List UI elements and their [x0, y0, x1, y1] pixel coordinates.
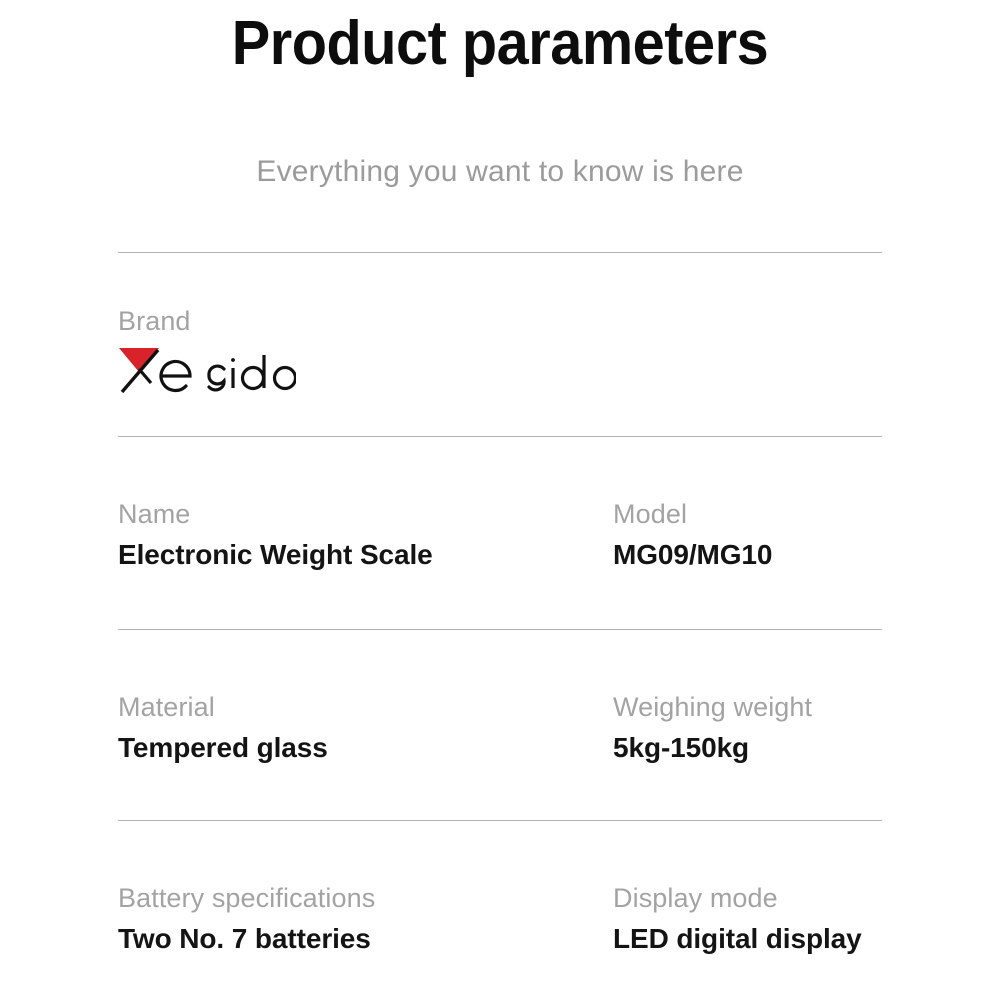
spec-value-material: Tempered glass	[118, 730, 613, 765]
divider-after-name	[118, 629, 882, 630]
divider-after-material	[118, 820, 882, 821]
spec-cell-material: Material Tempered glass	[118, 691, 613, 765]
spec-label-battery: Battery specifications	[118, 882, 613, 916]
spec-value-battery: Two No. 7 batteries	[118, 921, 613, 956]
spec-value-name: Electronic Weight Scale	[118, 537, 613, 572]
page-title: Product parameters	[35, 8, 965, 79]
spec-cell-model: Model MG09/MG10	[613, 498, 882, 572]
brand-logo	[118, 345, 613, 393]
spec-cell-battery: Battery specifications Two No. 7 batteri…	[118, 882, 613, 956]
spec-row-battery-display: Battery specifications Two No. 7 batteri…	[118, 882, 882, 956]
page-subtitle: Everything you want to know is here	[0, 152, 1000, 191]
spec-cell-name: Name Electronic Weight Scale	[118, 498, 613, 572]
red-triangle-icon	[119, 348, 159, 372]
spec-label-display-mode: Display mode	[613, 882, 882, 916]
spec-cell-brand: Brand	[118, 305, 613, 393]
spec-cell-display-mode: Display mode LED digital display	[613, 882, 882, 956]
spec-label-name: Name	[118, 498, 613, 532]
spec-label-material: Material	[118, 691, 613, 725]
spec-value-display-mode: LED digital display	[613, 921, 882, 956]
spec-value-weighing-weight: 5kg-150kg	[613, 730, 882, 765]
divider-top	[118, 252, 882, 253]
spec-label-model: Model	[613, 498, 882, 532]
spec-row-material-weight: Material Tempered glass Weighing weight …	[118, 691, 882, 765]
product-parameters-page: Product parameters Everything you want t…	[0, 0, 1000, 1000]
spec-value-model: MG09/MG10	[613, 537, 882, 572]
spec-label-weighing-weight: Weighing weight	[613, 691, 882, 725]
spec-row-brand: Brand	[118, 305, 882, 393]
spec-row-name-model: Name Electronic Weight Scale Model MG09/…	[118, 498, 882, 572]
divider-after-brand	[118, 436, 882, 437]
spec-label-brand: Brand	[118, 305, 613, 339]
spec-cell-weighing-weight: Weighing weight 5kg-150kg	[613, 691, 882, 765]
